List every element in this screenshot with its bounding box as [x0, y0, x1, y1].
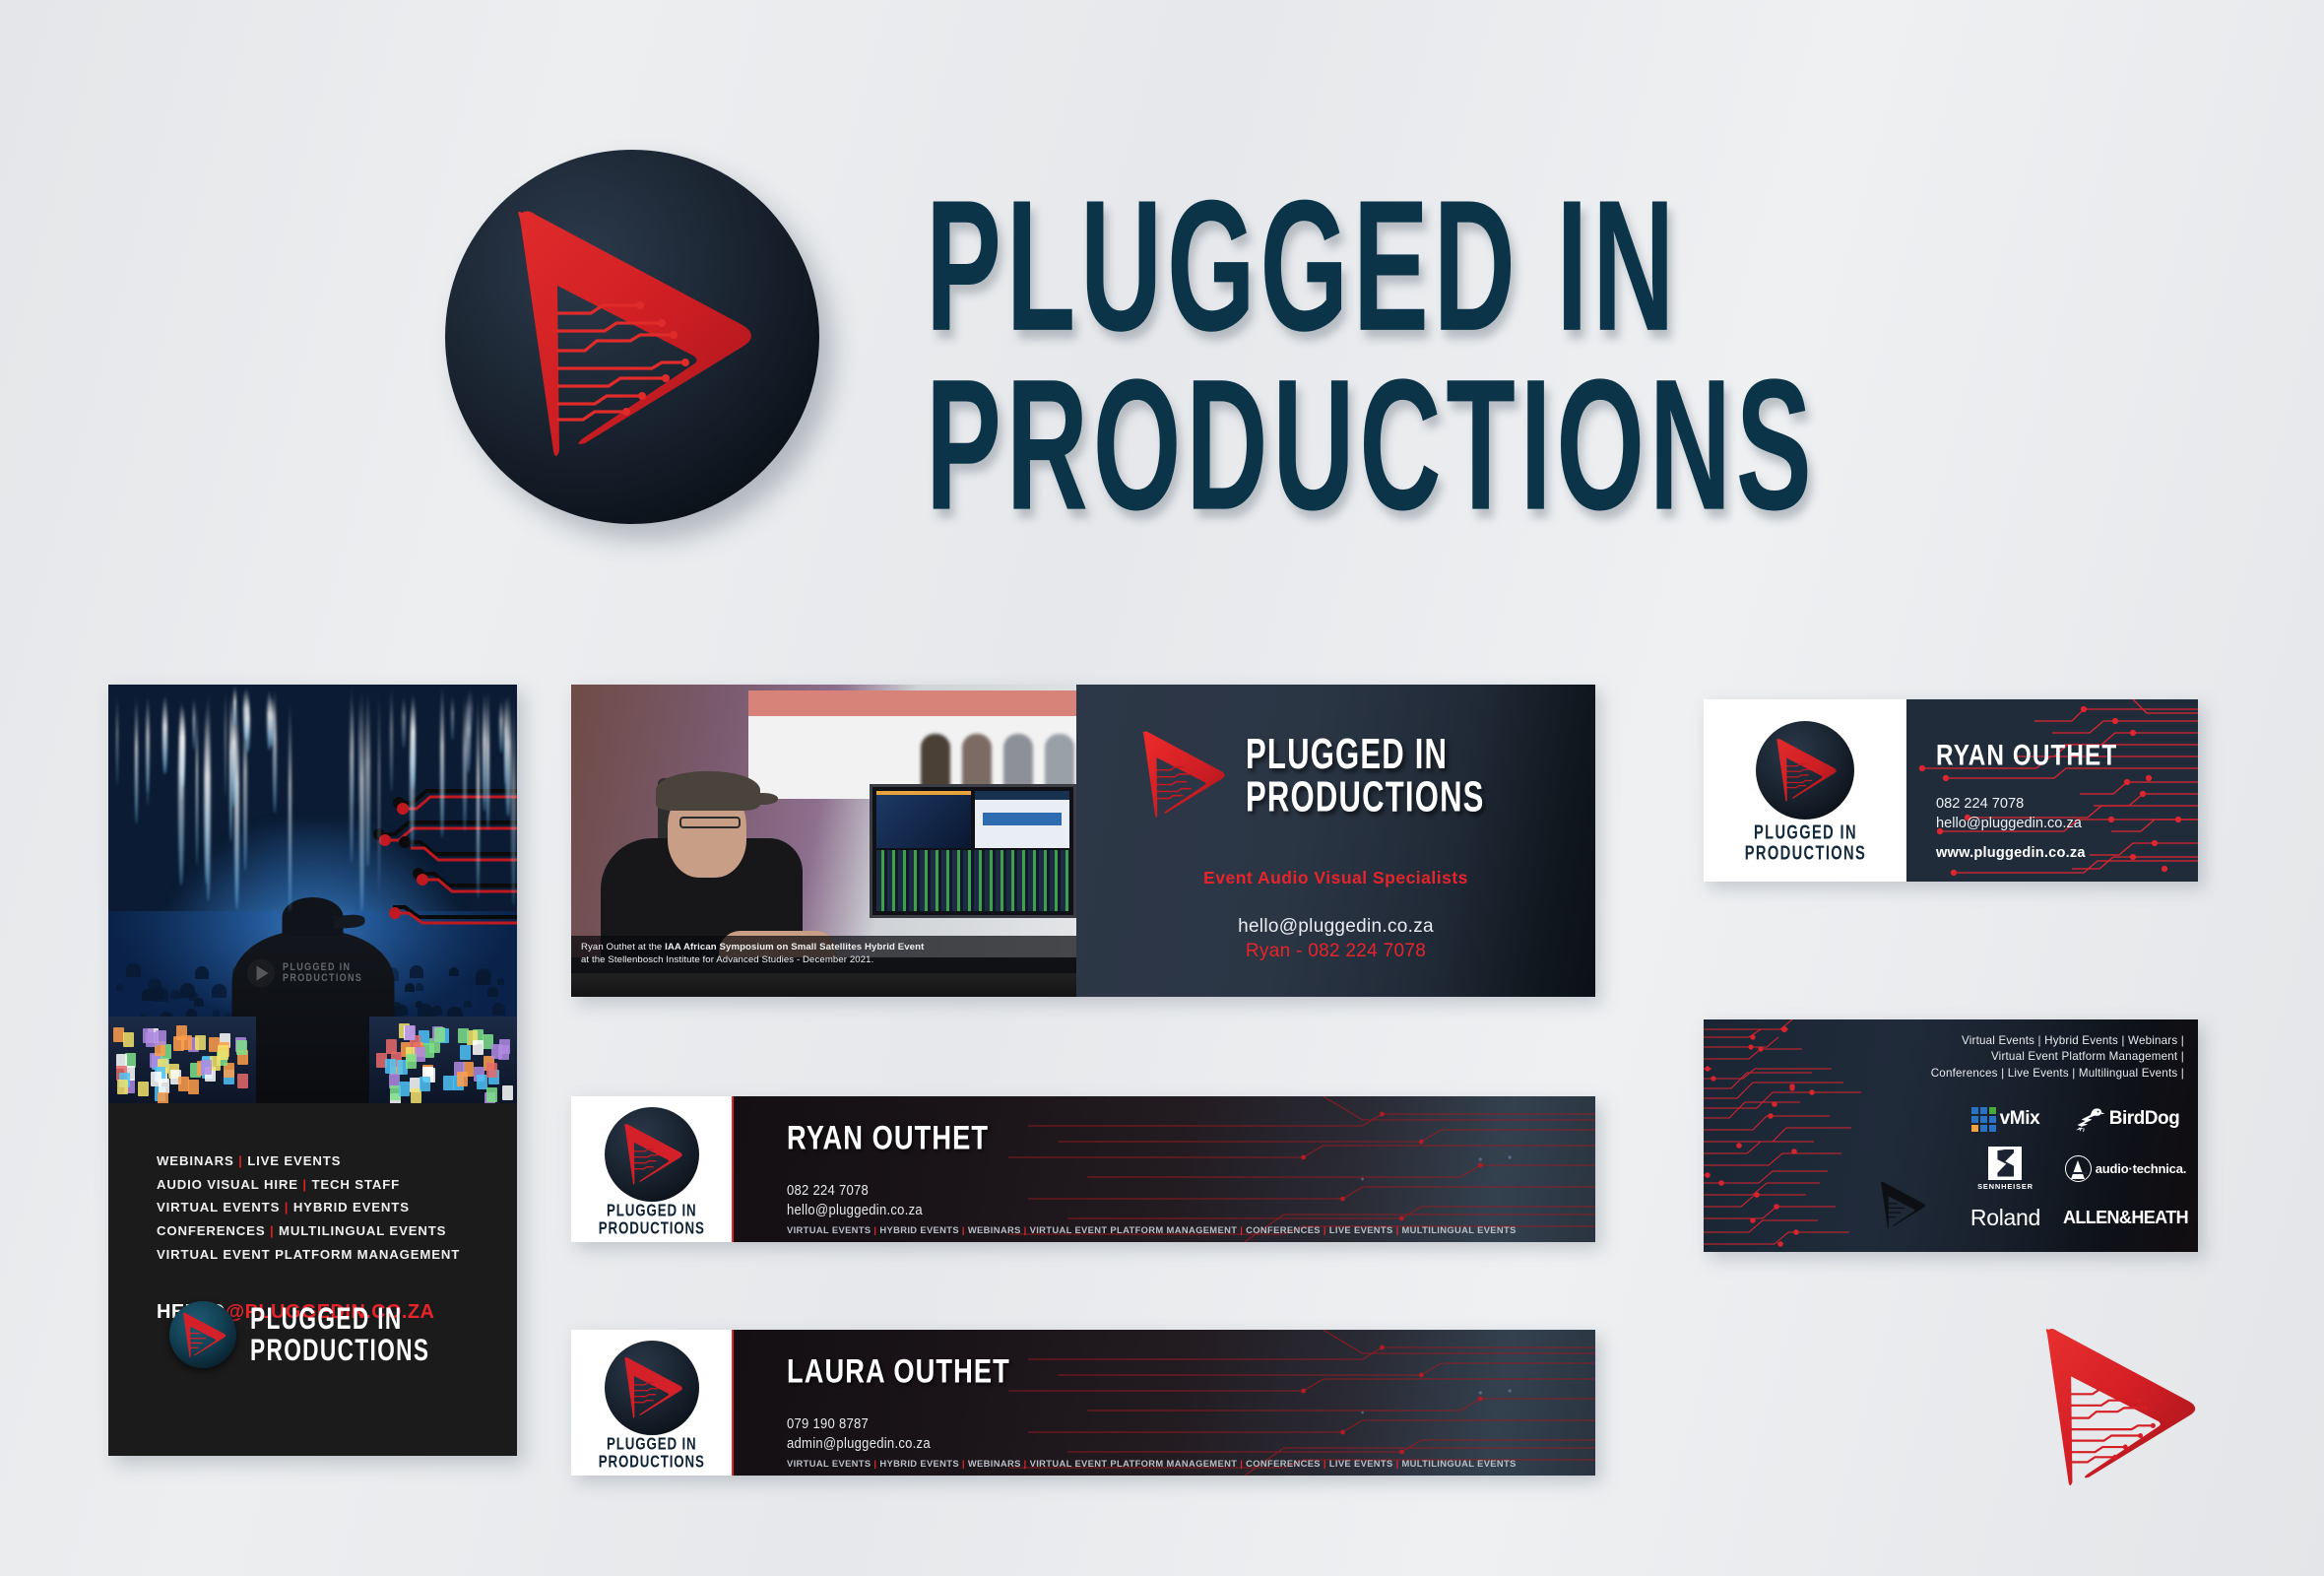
- business-card-phone[interactable]: 082 224 7078: [1936, 796, 2024, 812]
- audio-technica-ring-icon: [2065, 1155, 2092, 1182]
- console-led: [201, 1060, 212, 1075]
- console-right: [369, 1017, 517, 1103]
- person-cap: [656, 771, 760, 811]
- console-led: [138, 1082, 149, 1096]
- crowd-head: [431, 1006, 441, 1016]
- signature-name: LAURA OUTHET: [787, 1351, 1010, 1391]
- stage-light: [147, 694, 149, 807]
- footer-item: VIRTUAL EVENT PLATFORM MANAGEMENT: [1030, 1224, 1238, 1235]
- stage-light: [206, 693, 211, 901]
- footer-item: VIRTUAL EVENT PLATFORM MANAGEMENT: [1030, 1458, 1238, 1469]
- signature-lockup-text: PLUGGED IN PRODUCTIONS: [599, 1436, 705, 1471]
- stage-light: [359, 689, 364, 910]
- stage-light: [378, 687, 380, 892]
- stage-light: [402, 696, 407, 749]
- partner-label: vMix: [2000, 1108, 2040, 1130]
- business-card-logo-circle: [1756, 721, 1854, 820]
- crowd-head: [126, 963, 140, 977]
- stage-light: [504, 695, 506, 783]
- operator-cap: [283, 897, 344, 937]
- crowd-head: [497, 978, 505, 985]
- console-led: [457, 1072, 468, 1086]
- partners-service-line: Virtual Event Platform Management |: [1931, 1049, 2184, 1065]
- console-led: [399, 1082, 410, 1096]
- floating-play-arrow-circuit-icon: [2043, 1325, 2201, 1492]
- masthead: PLUGGED IN PRODUCTIONS: [0, 0, 2324, 591]
- crowd-head: [170, 990, 180, 999]
- email-signature-laura: PLUGGED IN PRODUCTIONS LAURA OUTHET 079 …: [571, 1330, 1595, 1476]
- vmix-grid-icon: [1971, 1107, 1996, 1132]
- footer-item: WEBINARS: [968, 1224, 1021, 1235]
- poster-service-line: VIRTUAL EVENTS | HYBRID EVENTS: [157, 1196, 517, 1219]
- crowd-head: [195, 966, 209, 979]
- vmix-square: [1980, 1125, 1987, 1132]
- console-led: [123, 1032, 134, 1047]
- signature-email[interactable]: hello@pluggedin.co.za: [787, 1203, 923, 1218]
- signature-services-footer: VIRTUAL EVENTS | HYBRID EVENTS | WEBINAR…: [787, 1224, 1585, 1235]
- screen-header-band: [748, 690, 1076, 716]
- console-led: [237, 1074, 248, 1088]
- crowd-head: [487, 987, 498, 997]
- email-signature-ryan: PLUGGED IN PRODUCTIONS RYAN OUTHET 082 2…: [571, 1096, 1595, 1242]
- stage-light: [178, 697, 184, 885]
- crowd-head: [405, 983, 415, 993]
- crowd-head: [410, 965, 423, 978]
- crowd-head: [464, 1001, 471, 1008]
- person-glasses: [679, 817, 741, 828]
- console-led: [477, 1075, 487, 1089]
- poster-service-line: CONFERENCES | MULTILINGUAL EVENTS: [157, 1219, 517, 1243]
- stage-light: [225, 689, 227, 798]
- poster-photo: PLUGGED IN PRODUCTIONS: [108, 685, 517, 1103]
- service-left: VIRTUAL EVENTS: [157, 1200, 280, 1215]
- bird-icon: [2072, 1106, 2105, 1132]
- console-led: [473, 1040, 484, 1055]
- vmix-square: [1980, 1116, 1987, 1123]
- vmix-square: [1989, 1107, 1996, 1114]
- hero-logo-lockup: PLUGGED IN PRODUCTIONS: [1141, 730, 1530, 821]
- poster-lockup-text: PLUGGED IN PRODUCTIONS: [250, 1303, 429, 1366]
- signature-services-footer: VIRTUAL EVENTS | HYBRID EVENTS | WEBINAR…: [787, 1458, 1585, 1469]
- signature-phone[interactable]: 079 190 8787: [787, 1416, 869, 1432]
- footer-item: VIRTUAL EVENTS: [787, 1458, 871, 1469]
- play-arrow-circuit-icon: [514, 207, 760, 465]
- partner-birddog: BirdDog: [2072, 1106, 2179, 1132]
- vmix-square: [1980, 1107, 1987, 1114]
- console-led: [458, 1028, 469, 1043]
- play-arrow-circuit-icon: [1775, 738, 1839, 804]
- play-arrow-circuit-icon: [182, 1312, 227, 1359]
- crowd-head: [213, 1010, 220, 1017]
- partner-label: BirdDog: [2109, 1108, 2179, 1130]
- console-led: [195, 1035, 206, 1050]
- service-separator: |: [285, 1200, 290, 1215]
- stage-light: [162, 694, 168, 774]
- stage-light: [289, 700, 291, 911]
- partners-logo-grid: vMix BirdDog SENNHEISER audio·technica. …: [1948, 1094, 2188, 1242]
- stage-light: [499, 699, 503, 753]
- crowd-head: [449, 967, 459, 977]
- signature-logo-circle: [605, 1341, 699, 1435]
- vmix-square: [1971, 1107, 1978, 1114]
- multiviewer-monitor: [870, 784, 1076, 918]
- console-led: [486, 1087, 497, 1102]
- console-led: [406, 1054, 417, 1069]
- play-arrow-circuit-icon: [623, 1123, 684, 1187]
- hero-email[interactable]: hello@pluggedin.co.za: [1238, 916, 1434, 938]
- console-led: [386, 1039, 397, 1054]
- partners-services-list: Virtual Events | Hybrid Events | Webinar…: [1931, 1033, 2184, 1082]
- vmix-square: [1989, 1125, 1996, 1132]
- business-card-name: RYAN OUTHET: [1936, 739, 2117, 772]
- signature-phone[interactable]: 082 224 7078: [787, 1183, 869, 1199]
- crowd-head: [212, 984, 226, 998]
- console-led: [434, 1027, 445, 1042]
- service-left: CONFERENCES: [157, 1223, 265, 1238]
- partners-service-line: Conferences | Live Events | Multilingual…: [1931, 1066, 2184, 1082]
- service-right: MULTILINGUAL EVENTS: [279, 1223, 446, 1238]
- footer-item: MULTILINGUAL EVENTS: [1402, 1458, 1517, 1469]
- caption-prefix: Ryan Outhet at the: [581, 942, 665, 952]
- console-led: [405, 1025, 416, 1040]
- partner-label: ALLEN&HEATH: [2063, 1208, 2188, 1228]
- partner-audio-technica: audio·technica.: [2065, 1155, 2186, 1182]
- partner-allen-heath: ALLEN&HEATH: [2063, 1208, 2188, 1228]
- partner-label: Roland: [1970, 1205, 2040, 1231]
- signature-email[interactable]: admin@pluggedin.co.za: [787, 1436, 931, 1452]
- signature-logo-circle: [605, 1107, 699, 1202]
- poster-logo-circle: [169, 1301, 236, 1368]
- stage-light: [273, 688, 277, 814]
- stage-light: [451, 695, 453, 741]
- crowd-head: [492, 1003, 506, 1016]
- stage-light: [245, 696, 250, 753]
- console-led: [460, 1045, 471, 1060]
- poster-body: WEBINARS | LIVE EVENTS AUDIO VISUAL HIRE…: [108, 1103, 517, 1324]
- console-led: [178, 1077, 189, 1091]
- business-card-back: RYAN OUTHET 082 224 7078 hello@pluggedin…: [1906, 699, 2198, 882]
- sennheiser-s-icon: [1988, 1147, 2022, 1180]
- footer-item: VIRTUAL EVENTS: [787, 1224, 871, 1235]
- stage-light: [365, 692, 369, 867]
- service-separator: |: [270, 1223, 275, 1238]
- watermark-play-icon: [246, 958, 276, 988]
- console-led: [159, 1079, 169, 1093]
- service-left: WEBINARS: [157, 1153, 234, 1168]
- service-left: VIRTUAL EVENT PLATFORM MANAGEMENT: [157, 1247, 460, 1262]
- hero-banner: Ryan Outhet at the IAA African Symposium…: [571, 685, 1595, 997]
- background-people: [921, 728, 1076, 789]
- caption-suffix: at the Stellenbosch Institute for Advanc…: [581, 954, 873, 965]
- hero-photo: Ryan Outhet at the IAA African Symposium…: [571, 685, 1076, 997]
- brand-logo-circle: [445, 150, 819, 524]
- stage-light: [116, 695, 118, 786]
- monitor-program: [975, 791, 1069, 848]
- footer-item: HYBRID EVENTS: [879, 1224, 959, 1235]
- service-left: AUDIO VISUAL HIRE: [157, 1177, 298, 1192]
- play-arrow-circuit-icon: [623, 1356, 684, 1420]
- signature-lockup-text: PLUGGED IN PRODUCTIONS: [599, 1203, 705, 1237]
- service-separator: |: [302, 1177, 307, 1192]
- console-led: [156, 1030, 166, 1045]
- monitor-preview: [876, 791, 971, 848]
- poster-watermark-text: PLUGGED IN PRODUCTIONS: [283, 962, 362, 984]
- console-led: [420, 1077, 430, 1091]
- service-right: LIVE EVENTS: [247, 1153, 341, 1168]
- partner-vmix: vMix: [1971, 1107, 2040, 1132]
- hero-tagline: Event Audio Visual Specialists: [1203, 868, 1468, 888]
- business-card-email[interactable]: hello@pluggedin.co.za: [1936, 816, 2082, 831]
- crowd-head: [418, 1004, 432, 1018]
- poster-service-line: VIRTUAL EVENT PLATFORM MANAGEMENT: [157, 1243, 517, 1267]
- poster-logo-lockup: PLUGGED IN PRODUCTIONS: [169, 1301, 464, 1368]
- business-card-website[interactable]: www.pluggedin.co.za: [1936, 845, 2086, 861]
- signature-detail-area: RYAN OUTHET 082 224 7078 hello@pluggedin…: [732, 1096, 1595, 1242]
- stage-light: [233, 686, 236, 726]
- stage-light: [352, 699, 354, 805]
- poster-service-line: WEBINARS | LIVE EVENTS: [157, 1149, 517, 1173]
- service-right: HYBRID EVENTS: [293, 1200, 410, 1215]
- signature-logo-area: PLUGGED IN PRODUCTIONS: [571, 1096, 732, 1242]
- console-led: [236, 1040, 247, 1055]
- hero-phone[interactable]: Ryan - 082 224 7078: [1246, 941, 1426, 962]
- signature-detail-area: LAURA OUTHET 079 190 8787 admin@pluggedi…: [732, 1330, 1595, 1476]
- console-led: [117, 1080, 128, 1094]
- hero-info-panel: PLUGGED IN PRODUCTIONS Event Audio Visua…: [1076, 685, 1595, 997]
- crowd-head: [476, 970, 490, 985]
- footer-item: LIVE EVENTS: [1329, 1224, 1393, 1235]
- footer-item: CONFERENCES: [1246, 1458, 1321, 1469]
- signature-name: RYAN OUTHET: [787, 1118, 989, 1157]
- stage-light: [463, 694, 467, 832]
- footer-item: WEBINARS: [968, 1458, 1021, 1469]
- crowd-head: [116, 984, 123, 991]
- stage-light: [511, 701, 516, 905]
- stage-light: [135, 696, 138, 825]
- console-led: [113, 1027, 124, 1042]
- console-led: [502, 1085, 513, 1100]
- console-led: [385, 1059, 396, 1074]
- business-card: PLUGGED IN PRODUCTIONS RYA: [1704, 699, 2198, 882]
- partner-label: audio·technica.: [2096, 1161, 2186, 1176]
- caption-bold: IAA African Symposium on Small Satellite…: [665, 942, 924, 952]
- poster-watermark: PLUGGED IN PRODUCTIONS: [246, 958, 380, 988]
- signature-logo-area: PLUGGED IN PRODUCTIONS: [571, 1330, 732, 1476]
- poster-flyer: PLUGGED IN PRODUCTIONS WEBINARS | LIVE E…: [108, 685, 517, 1456]
- service-right: TECH STAFF: [311, 1177, 400, 1192]
- console-led: [188, 1080, 199, 1094]
- footer-item: CONFERENCES: [1246, 1224, 1321, 1235]
- monitor-audio-meters: [876, 850, 1069, 911]
- play-arrow-circuit-icon: [1141, 730, 1228, 821]
- hero-photo-caption: Ryan Outhet at the IAA African Symposium…: [571, 936, 1076, 973]
- partner-sennheiser: SENNHEISER: [1977, 1147, 2033, 1191]
- partners-panel: Virtual Events | Hybrid Events | Webinar…: [1704, 1019, 2198, 1252]
- hero-lockup-text: PLUGGED IN PRODUCTIONS: [1246, 732, 1485, 818]
- play-arrow-circuit-icon: [1879, 1181, 1928, 1230]
- console-led: [499, 1039, 510, 1054]
- poster-service-line: AUDIO VISUAL HIRE | TECH STAFF: [157, 1173, 517, 1197]
- footer-item: HYBRID EVENTS: [879, 1458, 959, 1469]
- vmix-square: [1971, 1116, 1978, 1123]
- stage-light: [193, 697, 195, 750]
- partner-roland: Roland: [1970, 1205, 2040, 1231]
- business-card-lockup-text: PLUGGED IN PRODUCTIONS: [1744, 822, 1865, 863]
- business-card-front: PLUGGED IN PRODUCTIONS: [1704, 699, 1906, 882]
- crowd-head: [395, 1005, 407, 1017]
- footer-item: MULTILINGUAL EVENTS: [1402, 1224, 1517, 1235]
- footer-item: LIVE EVENTS: [1329, 1458, 1393, 1469]
- page-title: PLUGGED IN PRODUCTIONS: [926, 177, 1816, 536]
- console-led: [486, 1063, 497, 1078]
- console-left: [108, 1017, 256, 1103]
- service-separator: |: [238, 1153, 243, 1168]
- console-led: [158, 1092, 168, 1103]
- crowd-head: [180, 983, 195, 998]
- crowd-head: [416, 983, 423, 991]
- vmix-square: [1989, 1116, 1996, 1123]
- partners-service-line: Virtual Events | Hybrid Events | Webinar…: [1931, 1033, 2184, 1049]
- vmix-square: [1971, 1125, 1978, 1132]
- crowd-head: [150, 987, 164, 1001]
- console-led: [181, 1035, 192, 1050]
- partner-label: SENNHEISER: [1977, 1182, 2033, 1191]
